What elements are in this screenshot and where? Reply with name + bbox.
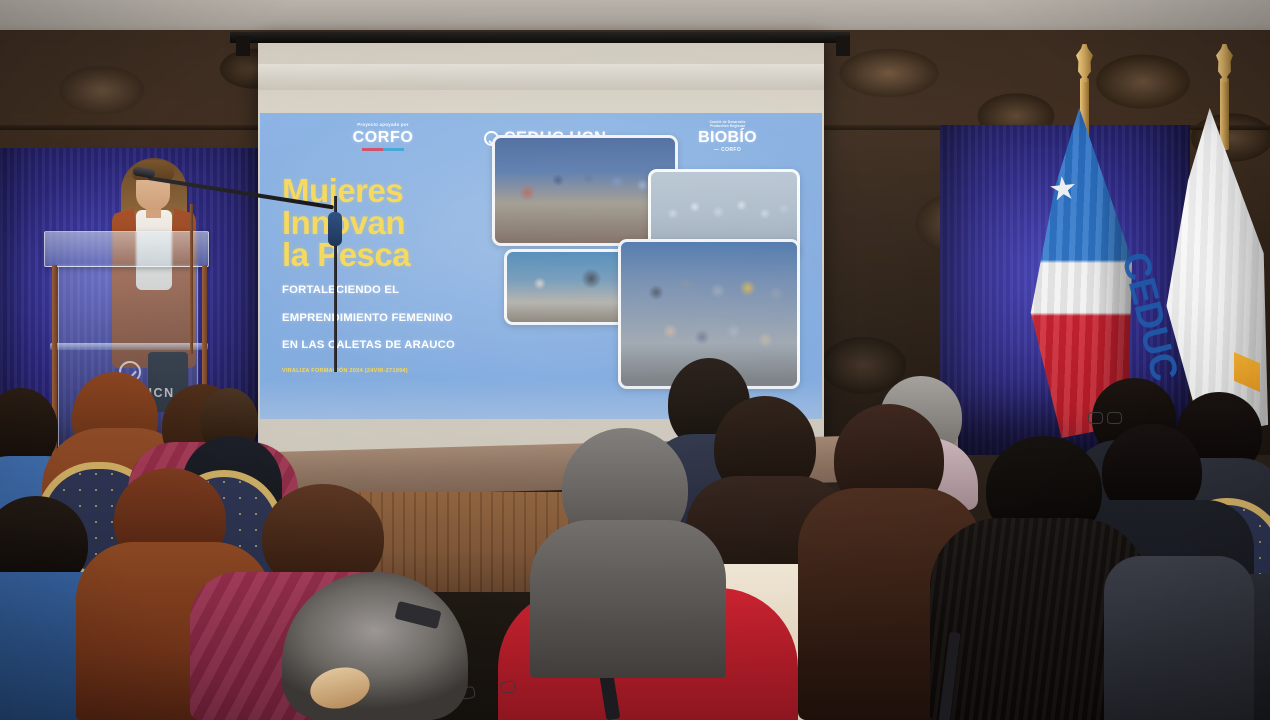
person-head	[282, 572, 468, 720]
slide-project-code: VIRALIZA FORMACIÓN 2024 (24VIR-271994)	[282, 368, 512, 374]
podium-shelf	[50, 343, 208, 350]
slide-subtitle-line-2: EMPRENDIMIENTO FEMENINO	[282, 311, 512, 327]
person-hair-fall	[530, 520, 726, 678]
collage-photo-3	[504, 249, 627, 325]
person-body	[1104, 556, 1254, 720]
flagpole-right	[1220, 78, 1229, 150]
list-item	[1104, 556, 1254, 720]
microphone-clamp	[328, 212, 342, 246]
list-item	[514, 428, 734, 678]
slide-title-line-3: la Pesca	[282, 239, 512, 271]
corfo-wordmark: CORFO	[318, 130, 448, 146]
corfo-kicker: Proyecto apoyado por	[318, 123, 448, 128]
screen-rail-mount-right	[836, 36, 850, 56]
presentation-photo: Proyecto apoyado por CORFO CEDUC UCN Com…	[0, 0, 1270, 720]
slide-subtitle-line-3: EN LAS CALETAS DE ARAUCO	[282, 338, 512, 354]
corfo-color-bar	[362, 148, 404, 151]
glasses-icon	[1088, 412, 1122, 422]
corfo-logo: Proyecto apoyado por CORFO	[318, 123, 448, 151]
slide-subtitle-line-1: FORTALECIENDO EL	[282, 283, 512, 299]
slide-title-line-2: Innovan	[282, 207, 512, 239]
biobio-kicker-2: Productivo Regional	[660, 125, 795, 129]
podium-lectern-top	[44, 231, 209, 267]
screen-rail-mount-left	[236, 36, 250, 56]
screen-rail	[230, 32, 850, 43]
screen-crease	[258, 64, 824, 90]
microphone-stand-wood	[190, 204, 193, 354]
